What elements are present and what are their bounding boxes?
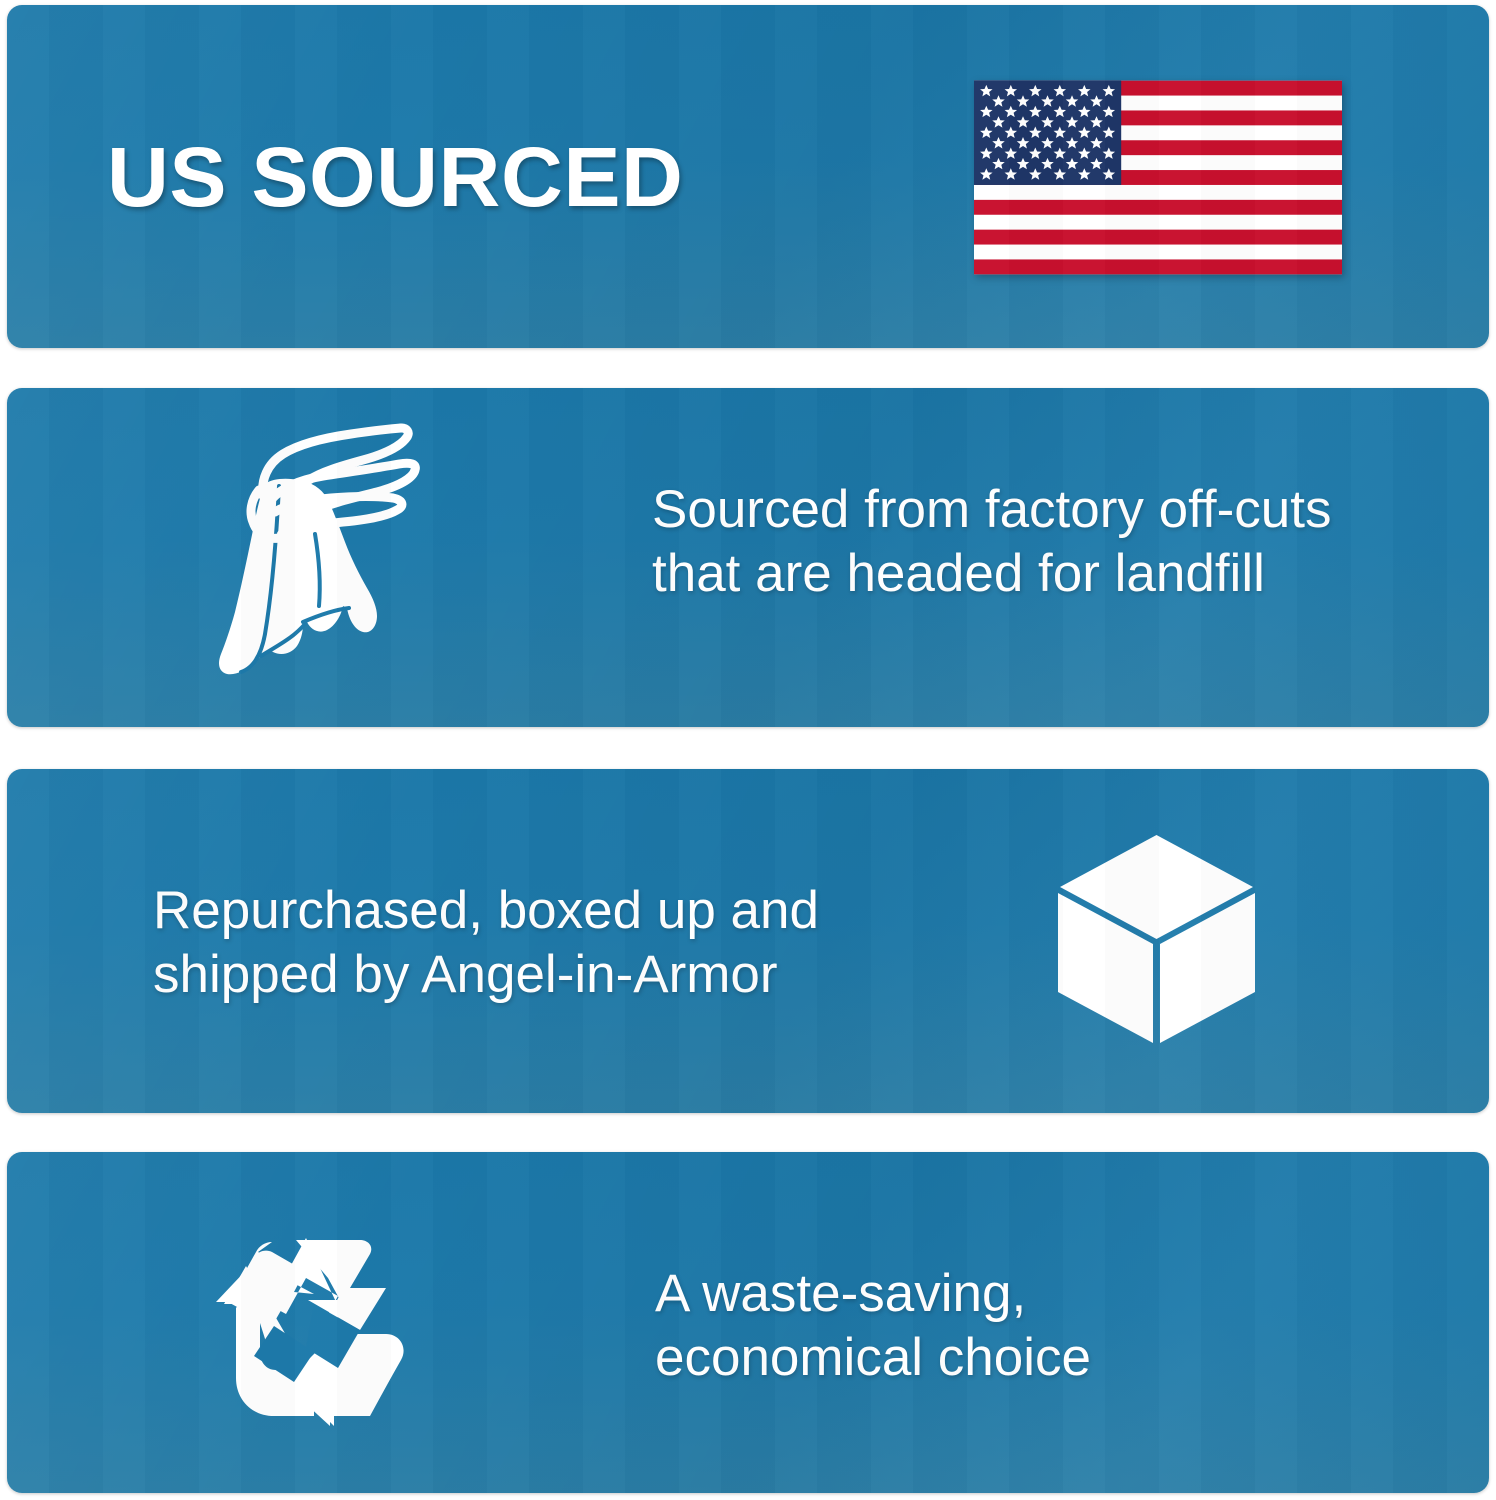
card-repurchased-shipped: Repurchased, boxed up and shipped by Ang… [7,769,1489,1113]
card-waste-saving-text: A waste-saving, economical choice [655,1262,1091,1389]
card-waste-saving: A waste-saving, economical choice [7,1152,1489,1493]
hand-holding-cloth-icon [203,416,483,698]
card-us-sourced: US SOURCED [7,5,1489,348]
card-factory-offcuts: Sourced from factory off-cuts that are h… [7,388,1489,727]
page-title: US SOURCED [107,135,683,219]
card-factory-offcuts-text: Sourced from factory off-cuts that are h… [652,478,1331,605]
recycle-icon [210,1230,425,1432]
card-repurchased-shipped-text: Repurchased, boxed up and shipped by Ang… [153,879,819,1006]
shipping-box-icon [1054,831,1259,1046]
infographic-root: US SOURCED [0,0,1496,1500]
card-us-sourced-content: US SOURCED [7,5,1489,348]
